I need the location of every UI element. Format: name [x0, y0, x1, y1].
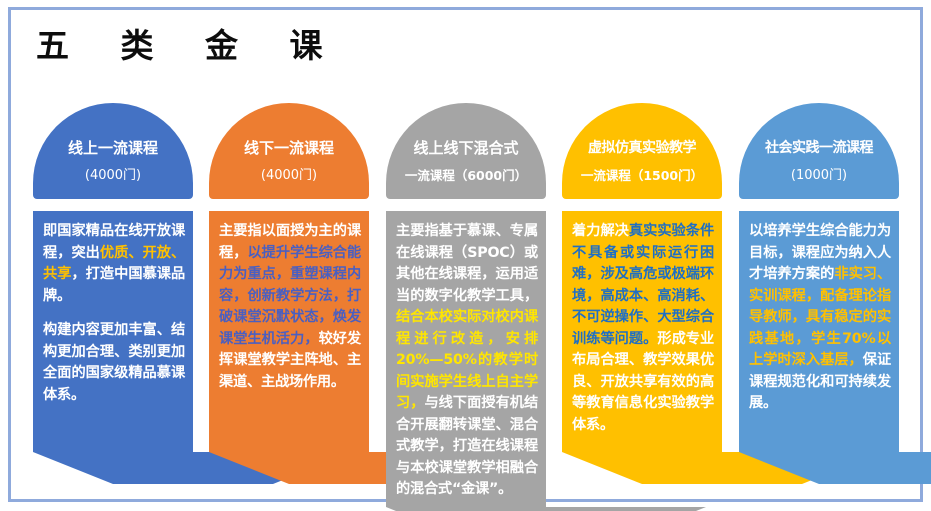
body-paragraph: 即国家精品在线开放课程，突出优质、开放、共享，打造中国慕课品牌。	[43, 221, 185, 307]
column-body-panel: 以培养学生综合能力为目标，课程应为纳入人才培养方案的非实习、实训课程，配备理论指…	[739, 211, 899, 421]
column-body-virtual-simulation-first-class: 着力解决真实实验条件不具备或实际运行困难，涉及高危或极端环境，高成本、高消耗、不…	[562, 211, 722, 484]
column-virtual-simulation-first-class[interactable]: 虚拟仿真实验教学一流课程（1500门）着力解决真实实验条件不具备或实际运行困难，…	[562, 103, 722, 484]
column-header-count: (4000门)	[261, 167, 317, 185]
column-header-title: 线下一流课程	[244, 138, 334, 158]
column-header-title: 社会实践一流课程	[765, 138, 873, 158]
column-arrow-tail	[386, 507, 706, 511]
body-paragraph: 构建内容更加丰富、结构更加合理、类别更加全面的国家级精品慕课体系。	[43, 320, 185, 406]
column-body-online-first-class: 即国家精品在线开放课程，突出优质、开放、共享，打造中国慕课品牌。构建内容更加丰富…	[33, 211, 193, 484]
column-header-title: 线上线下混合式	[413, 138, 518, 158]
column-online-first-class[interactable]: 线上一流课程(4000门)即国家精品在线开放课程，突出优质、开放、共享，打造中国…	[33, 103, 193, 484]
body-text-run: 着力解决	[572, 223, 629, 239]
column-header-blended-first-class[interactable]: 线上线下混合式一流课程（6000门）	[386, 103, 546, 199]
column-arrow-tail	[739, 452, 931, 484]
column-body-blended-first-class: 主要指基于慕课、专属在线课程（SPOC）或其他在线课程，运用适当的数字化教学工具…	[386, 211, 546, 511]
column-header-count: (4000门)	[85, 167, 141, 185]
column-stem	[33, 412, 193, 452]
column-offline-first-class[interactable]: 线下一流课程(4000门)主要指以面授为主的课程，以提升学生综合能力为重点，重塑…	[209, 103, 369, 484]
column-header-title: 线上一流课程	[68, 138, 158, 158]
highlighted-text: 真实实验条件不具备或实际运行困难，涉及高危或极端环境，高成本、高消耗、不可逆操作…	[572, 223, 714, 347]
column-header-count: (1000门)	[791, 167, 847, 185]
column-header-offline-first-class[interactable]: 线下一流课程(4000门)	[209, 103, 369, 199]
page-title: 五 类 金 课	[36, 24, 342, 68]
infographic-slide: 五 类 金 课 线上一流课程(4000门)即国家精品在线开放课程，突出优质、开放…	[0, 0, 931, 511]
column-header-social-practice-first-class[interactable]: 社会实践一流课程(1000门)	[739, 103, 899, 199]
column-header-count: 一流课程（1500门）	[581, 167, 703, 185]
column-body-social-practice-first-class: 以培养学生综合能力为目标，课程应为纳入人才培养方案的非实习、实训课程，配备理论指…	[739, 211, 899, 484]
body-paragraph: 主要指以面授为主的课程，以提升学生综合能力为重点，重塑课程内容，创新教学方法，打…	[219, 221, 361, 393]
column-header-virtual-simulation-first-class[interactable]: 虚拟仿真实验教学一流课程（1500门）	[562, 103, 722, 199]
column-stem	[209, 399, 369, 452]
column-social-practice-first-class[interactable]: 社会实践一流课程(1000门)以培养学生综合能力为目标，课程应为纳入人才培养方案…	[739, 103, 899, 484]
column-body-panel: 着力解决真实实验条件不具备或实际运行困难，涉及高危或极端环境，高成本、高消耗、不…	[562, 211, 722, 442]
column-stem	[562, 442, 722, 452]
column-header-online-first-class[interactable]: 线上一流课程(4000门)	[33, 103, 193, 199]
column-header-count: 一流课程（6000门）	[405, 167, 527, 185]
body-text-run: 构建内容更加丰富、结构更加合理、类别更加全面的国家级精品慕课体系。	[43, 322, 185, 403]
column-body-panel: 主要指以面授为主的课程，以提升学生综合能力为重点，重塑课程内容，创新教学方法，打…	[209, 211, 369, 399]
column-body-panel: 即国家精品在线开放课程，突出优质、开放、共享，打造中国慕课品牌。构建内容更加丰富…	[33, 211, 193, 412]
column-blended-first-class[interactable]: 线上线下混合式一流课程（6000门）主要指基于慕课、专属在线课程（SPOC）或其…	[386, 103, 546, 511]
column-body-offline-first-class: 主要指以面授为主的课程，以提升学生综合能力为重点，重塑课程内容，创新教学方法，打…	[209, 211, 369, 484]
body-paragraph: 主要指基于慕课、专属在线课程（SPOC）或其他在线课程，运用适当的数字化教学工具…	[396, 221, 538, 501]
body-paragraph: 以培养学生综合能力为目标，课程应为纳入人才培养方案的非实习、实训课程，配备理论指…	[749, 221, 891, 415]
column-body-panel: 主要指基于慕课、专属在线课程（SPOC）或其他在线课程，运用适当的数字化教学工具…	[386, 211, 546, 507]
body-paragraph: 着力解决真实实验条件不具备或实际运行困难，涉及高危或极端环境，高成本、高消耗、不…	[572, 221, 714, 436]
column-stem	[739, 421, 899, 452]
column-header-title: 虚拟仿真实验教学	[588, 138, 696, 158]
body-text-run: 主要指基于慕课、专属在线课程（SPOC）或其他在线课程，运用适当的数字化教学工具…	[396, 223, 538, 304]
